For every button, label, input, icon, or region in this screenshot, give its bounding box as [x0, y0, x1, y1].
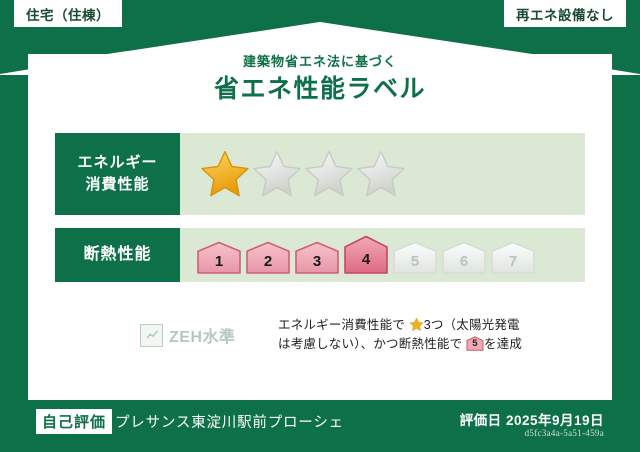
house-shape-icon	[490, 241, 536, 275]
evaluation-id: d5fc3a4a-5a51-459a	[525, 428, 604, 438]
zeh-description-line1: エネルギー消費性能で 3つ（太陽光発電	[278, 316, 585, 335]
badge-building-type: 住宅（住棟）	[14, 0, 122, 27]
zeh-desc-line1-pre: エネルギー消費性能で	[278, 318, 405, 332]
inline-house-icon: 5	[466, 336, 484, 351]
insulation-level-scale: 1234567	[196, 235, 536, 275]
self-evaluation-badge: 自己評価	[36, 409, 112, 434]
evaluation-date: 評価日 2025年9月19日	[460, 409, 604, 429]
zeh-description-line2: は考慮しない）、かつ断熱性能で 5 を達成	[278, 335, 585, 354]
title-subtitle: 建築物省エネ法に基づく	[0, 55, 640, 68]
zeh-mark: ZEH水準	[55, 323, 270, 347]
energy-performance-value	[180, 133, 585, 215]
energy-performance-label: 住宅（住棟） 再エネ設備なし 建築物省エネ法に基づく 省エネ性能ラベル エネルギ…	[0, 0, 640, 452]
energy-performance-row: エネルギー 消費性能	[55, 133, 585, 215]
insulation-level-5: 5	[392, 241, 438, 275]
insulation-performance-row: 断熱性能 1234567	[55, 228, 585, 282]
star-empty-icon	[356, 149, 406, 199]
insulation-performance-label-key: 断熱性能	[55, 228, 180, 282]
insulation-level-7: 7	[490, 241, 536, 275]
house-shape-icon	[392, 241, 438, 275]
house-shape-icon	[441, 241, 487, 275]
insulation-performance-value: 1234567	[180, 228, 585, 282]
energy-key-line2: 消費性能	[85, 174, 149, 196]
energy-performance-label-key: エネルギー 消費性能	[55, 133, 180, 215]
energy-key-line1: エネルギー	[77, 152, 157, 174]
zeh-label: ZEH水準	[169, 323, 236, 347]
star-filled-icon	[200, 149, 250, 199]
zeh-chart-icon	[140, 324, 163, 347]
house-shape-icon	[196, 241, 242, 275]
house-shape-icon	[294, 241, 340, 275]
insulation-level-3: 3	[294, 241, 340, 275]
zeh-desc-line1-post: 3つ（太陽光発電	[424, 318, 520, 332]
badge-renewable-energy: 再エネ設備なし	[504, 0, 626, 27]
insulation-level-2: 2	[245, 241, 291, 275]
zeh-standard-block: ZEH水準 エネルギー消費性能で 3つ（太陽光発電 は考慮しない）、かつ断熱性能…	[55, 316, 585, 355]
zeh-desc-line2-pre: は考慮しない）、かつ断熱性能で	[278, 337, 462, 351]
inline-star-icon	[409, 317, 424, 332]
zeh-description: エネルギー消費性能で 3つ（太陽光発電 は考慮しない）、かつ断熱性能で 5 を達…	[270, 316, 585, 355]
title-block: 建築物省エネ法に基づく 省エネ性能ラベル	[0, 55, 640, 102]
star-empty-icon	[252, 149, 302, 199]
star-rating	[200, 149, 406, 199]
house-shape-icon	[245, 241, 291, 275]
insulation-level-6: 6	[441, 241, 487, 275]
building-name: プレサンス東淀川駅前プローシェ	[115, 411, 344, 432]
house-shape-icon	[343, 235, 389, 275]
insulation-level-1: 1	[196, 241, 242, 275]
page-title: 省エネ性能ラベル	[0, 77, 640, 102]
star-empty-icon	[304, 149, 354, 199]
footer: 自己評価 プレサンス東淀川駅前プローシェ 評価日 2025年9月19日 d5fc…	[0, 400, 640, 452]
inline-house-number: 5	[466, 337, 484, 352]
zeh-desc-line2-post: を達成	[484, 337, 522, 351]
insulation-level-4: 4	[343, 235, 389, 275]
